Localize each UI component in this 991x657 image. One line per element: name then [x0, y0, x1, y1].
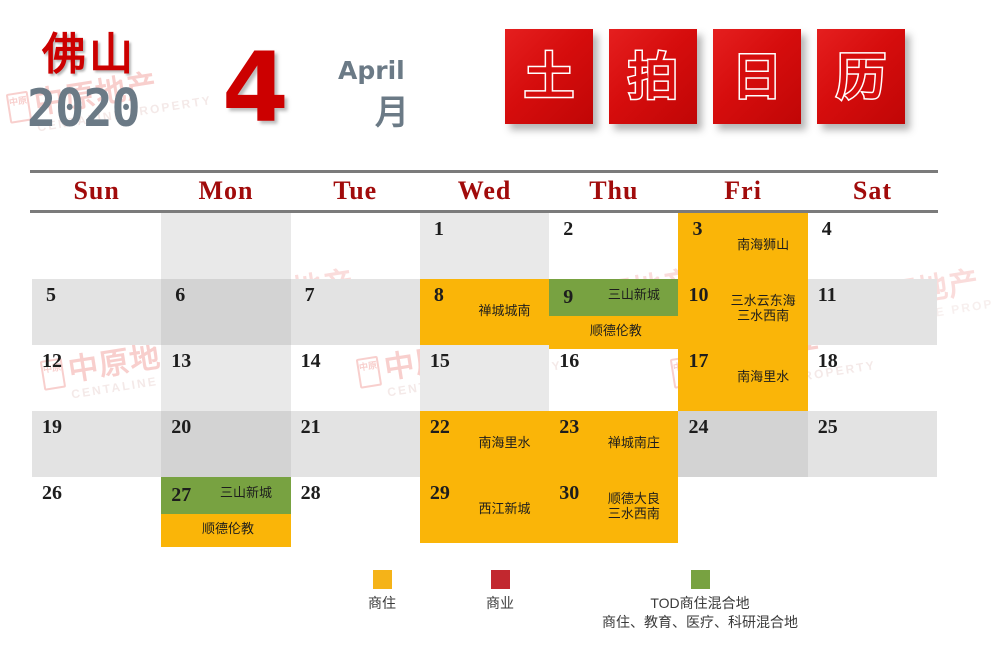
weekday-header-thu: Thu — [549, 174, 678, 208]
calendar-day-6[interactable]: 6 — [161, 279, 290, 345]
calendar-day-20[interactable]: 20 — [161, 411, 290, 477]
day-number: 15 — [430, 351, 450, 371]
day-location-list: 南海狮山 — [722, 237, 803, 252]
day-location-list: 三水云东海三水西南 — [722, 293, 803, 323]
calendar-day-14[interactable]: 14 — [291, 345, 420, 411]
day-location: 南海里水 — [722, 369, 803, 384]
day-location-secondary: 顺德伦教 — [559, 323, 672, 338]
calendar-day-8[interactable]: 8禅城城南 — [420, 279, 549, 345]
legend-label-line1: TOD商住混合地 — [555, 594, 845, 613]
calendar-week-row: 123南海狮山4 — [32, 213, 937, 279]
weekday-header-fri: Fri — [678, 174, 807, 208]
day-number: 3 — [692, 219, 702, 239]
day-location-list: 西江新城 — [464, 501, 545, 516]
day-location-list: 南海里水 — [464, 435, 545, 450]
calendar-day-1[interactable]: 1 — [420, 213, 549, 279]
day-number: 11 — [818, 285, 837, 305]
day-location: 西江新城 — [464, 501, 545, 516]
calendar-day-22[interactable]: 22南海里水 — [420, 411, 549, 477]
calendar-grid: 123南海狮山45678禅城城南9三山新城顺德伦教10三水云东海三水西南1112… — [32, 213, 937, 543]
calendar-day-empty — [291, 213, 420, 279]
calendar-day-empty — [161, 213, 290, 279]
day-number: 28 — [301, 483, 321, 503]
calendar-day-4[interactable]: 4 — [808, 213, 937, 279]
day-location: 南海狮山 — [722, 237, 803, 252]
header-rule-bottom — [30, 210, 938, 213]
calendar-day-2[interactable]: 2 — [549, 213, 678, 279]
day-number: 22 — [430, 417, 450, 437]
year-label: 2020 — [27, 83, 140, 135]
calendar-day-23[interactable]: 23禅城南庄 — [549, 411, 678, 477]
calendar-day-18[interactable]: 18 — [808, 345, 937, 411]
calendar-week-row: 121314151617南海里水18 — [32, 345, 937, 411]
header-rule-top — [30, 170, 938, 173]
day-location-list: 禅城南庄 — [593, 435, 674, 450]
calendar-day-12[interactable]: 12 — [32, 345, 161, 411]
calendar-day-empty — [32, 213, 161, 279]
day-number: 19 — [42, 417, 62, 437]
calendar-day-30[interactable]: 30顺德大良三水西南 — [549, 477, 678, 543]
city-title: 佛山 — [42, 33, 136, 77]
day-number: 23 — [559, 417, 579, 437]
calendar-day-26[interactable]: 26 — [32, 477, 161, 543]
day-number: 6 — [175, 285, 185, 305]
calendar-day-17[interactable]: 17南海里水 — [678, 345, 807, 411]
day-location: 三水西南 — [722, 308, 803, 323]
day-number: 17 — [688, 351, 708, 371]
day-location-primary: 三山新城 — [593, 287, 674, 302]
day-location: 三水西南 — [593, 506, 674, 521]
weekday-header-row: SunMonTueWedThuFriSat — [32, 174, 937, 208]
day-number: 12 — [42, 351, 62, 371]
day-number: 9 — [563, 287, 573, 307]
day-number: 27 — [171, 485, 191, 505]
day-number: 10 — [688, 285, 708, 305]
calendar-day-21[interactable]: 21 — [291, 411, 420, 477]
month-name-chinese: 月 — [375, 96, 409, 130]
calendar-week-row: 2627三山新城顺德伦教2829西江新城30顺德大良三水西南 — [32, 477, 937, 543]
calendar-week-row: 19202122南海里水23禅城南庄2425 — [32, 411, 937, 477]
day-number: 20 — [171, 417, 191, 437]
title-banner: 土拍日历 — [505, 29, 905, 124]
calendar-day-9[interactable]: 9三山新城顺德伦教 — [549, 279, 678, 345]
legend-item-residential-commercial: 商住 — [352, 570, 412, 613]
day-number: 24 — [688, 417, 708, 437]
weekday-header-sun: Sun — [32, 174, 161, 208]
calendar-day-29[interactable]: 29西江新城 — [420, 477, 549, 543]
legend-label: 商业 — [470, 594, 530, 613]
day-number: 26 — [42, 483, 62, 503]
calendar-day-27[interactable]: 27三山新城顺德伦教 — [161, 477, 290, 543]
day-number: 25 — [818, 417, 838, 437]
month-name-english: April — [338, 58, 405, 83]
weekday-header-sat: Sat — [808, 174, 937, 208]
calendar-week-row: 5678禅城城南9三山新城顺德伦教10三水云东海三水西南11 — [32, 279, 937, 345]
day-location: 禅城城南 — [464, 303, 545, 318]
legend-swatch-orange-icon — [373, 570, 392, 589]
calendar-day-empty — [678, 477, 807, 543]
month-number: 4 — [222, 40, 289, 136]
weekday-header-mon: Mon — [161, 174, 290, 208]
calendar-day-7[interactable]: 7 — [291, 279, 420, 345]
title-block-2: 拍 — [609, 29, 697, 124]
calendar-day-24[interactable]: 24 — [678, 411, 807, 477]
calendar-day-11[interactable]: 11 — [808, 279, 937, 345]
calendar-day-25[interactable]: 25 — [808, 411, 937, 477]
calendar-day-10[interactable]: 10三水云东海三水西南 — [678, 279, 807, 345]
day-number: 13 — [171, 351, 191, 371]
legend-swatch-green-icon — [691, 570, 710, 589]
legend-item-commercial: 商业 — [470, 570, 530, 613]
day-number: 29 — [430, 483, 450, 503]
calendar-page: 中原 中原地产 CENTALINE PROPERTY 中原 中原地产 CENTA… — [0, 0, 991, 657]
title-block-1: 土 — [505, 29, 593, 124]
title-block-4: 历 — [817, 29, 905, 124]
legend-item-tod-mixed: TOD商住混合地 商住、教育、医疗、科研混合地 — [555, 570, 845, 632]
day-location: 三水云东海 — [722, 293, 803, 308]
calendar-day-empty — [808, 477, 937, 543]
title-block-3: 日 — [713, 29, 801, 124]
day-location-primary: 三山新城 — [205, 485, 286, 500]
day-location-list: 顺德大良三水西南 — [593, 491, 674, 521]
day-number: 21 — [301, 417, 321, 437]
calendar-day-28[interactable]: 28 — [291, 477, 420, 543]
calendar-day-13[interactable]: 13 — [161, 345, 290, 411]
day-number: 30 — [559, 483, 579, 503]
day-location-list: 禅城城南 — [464, 303, 545, 318]
calendar-day-5[interactable]: 5 — [32, 279, 161, 345]
calendar-day-16[interactable]: 16 — [549, 345, 678, 411]
day-location: 南海里水 — [464, 435, 545, 450]
weekday-header-wed: Wed — [420, 174, 549, 208]
legend-label-line2: 商住、教育、医疗、科研混合地 — [555, 613, 845, 632]
day-location-list: 南海里水 — [722, 369, 803, 384]
calendar-day-19[interactable]: 19 — [32, 411, 161, 477]
day-location: 禅城南庄 — [593, 435, 674, 450]
day-number: 2 — [563, 219, 573, 239]
day-number: 16 — [559, 351, 579, 371]
legend-label: 商住 — [352, 594, 412, 613]
day-location-secondary: 顺德伦教 — [171, 521, 284, 536]
day-number: 1 — [434, 219, 444, 239]
day-number: 18 — [818, 351, 838, 371]
day-number: 5 — [46, 285, 56, 305]
day-number: 8 — [434, 285, 444, 305]
day-location: 顺德大良 — [593, 491, 674, 506]
weekday-header-tue: Tue — [291, 174, 420, 208]
legend-swatch-red-icon — [491, 570, 510, 589]
calendar-day-3[interactable]: 3南海狮山 — [678, 213, 807, 279]
day-number: 7 — [305, 285, 315, 305]
day-number: 14 — [301, 351, 321, 371]
day-number: 4 — [822, 219, 832, 239]
calendar-day-15[interactable]: 15 — [420, 345, 549, 411]
